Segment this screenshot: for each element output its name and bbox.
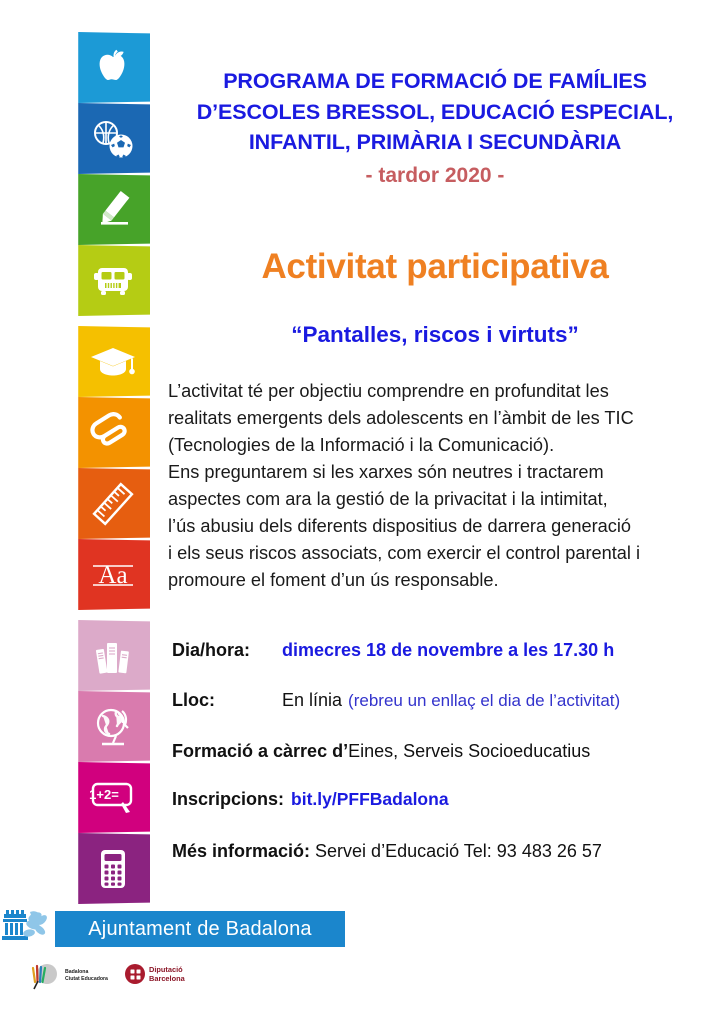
- program-title: PROGRAMA DE FORMACIÓ DE FAMÍLIES D’ESCOL…: [170, 66, 700, 188]
- description-line: (Tecnologies de la Informació i la Comun…: [168, 432, 688, 459]
- poster-footer: Ajuntament de Badalona Badalona Ciutat E…: [0, 900, 725, 1024]
- description-line: L’activitat té per objectiu comprendre e…: [168, 378, 688, 405]
- diputacio-barcelona-logo: Diputació Barcelona: [125, 964, 185, 984]
- icon-tile-pencil: [76, 174, 150, 245]
- icon-tile-apple: [76, 32, 150, 103]
- activity-subtitle: “Pantalles, riscos i virtuts”: [170, 322, 700, 348]
- badalona-logo-icon: [28, 962, 62, 990]
- title-line-3: INFANTIL, PRIMÀRIA I SECUNDÀRIA: [170, 127, 700, 158]
- apple-icon: [76, 32, 150, 103]
- inscripcions-link[interactable]: bit.ly/PFFBadalona: [291, 789, 449, 809]
- detail-row-lloc: Lloc:En línia(rebreu un enllaç el dia de…: [172, 690, 702, 711]
- dia-hora-label: Dia/hora:: [172, 640, 282, 661]
- icon-group-pink: 1+2=: [76, 620, 150, 904]
- diputacio-logo-text: Diputació Barcelona: [149, 965, 185, 984]
- diputacio-seal-icon: [125, 964, 145, 984]
- formacio-label: Formació a càrrec d’: [172, 741, 348, 762]
- mes-informacio-value: Servei d’Educació Tel: 93 483 26 57: [315, 841, 602, 861]
- description-line: i els seus riscos associats, com exercir…: [168, 540, 688, 567]
- icon-group-blue-green: [76, 32, 150, 316]
- icon-tile-sports: [76, 103, 150, 174]
- blackboard-math-icon: 1+2=: [76, 762, 150, 833]
- detail-row-mes-informacio: Més informació:Servei d’Educació Tel: 93…: [172, 841, 702, 862]
- badalona-logo-text: Badalona Ciutat Educadora: [65, 969, 108, 983]
- description-line: aspectes com ara la gestió de la privaci…: [168, 486, 688, 513]
- icon-tile-blackboard-math: 1+2=: [76, 762, 150, 833]
- description-line: l’ús abusiu dels diferents dispositius d…: [168, 513, 688, 540]
- icon-rail: Aa: [76, 32, 150, 892]
- badalona-logo-line-2: Ciutat Educadora: [65, 976, 108, 983]
- icon-group-warm: Aa: [76, 326, 150, 610]
- activity-heading: Activitat participativa: [170, 247, 700, 287]
- inscripcions-label: Inscripcions:: [172, 789, 284, 810]
- icon-tile-calculator: [76, 833, 150, 904]
- icon-tile-ruler: [76, 468, 150, 539]
- detail-row-inscripcions: Inscripcions:bit.ly/PFFBadalona: [172, 789, 702, 810]
- sports-balls-icon: [76, 103, 150, 174]
- school-bus-icon: [76, 245, 150, 316]
- detail-row-formacio: Formació a càrrec d’Eines, Serveis Socio…: [172, 741, 702, 762]
- graduation-cap-icon: [76, 326, 150, 397]
- lloc-note: (rebreu un enllaç el dia de l’activitat): [348, 691, 620, 710]
- description-line: promoure el foment d’un ús responsable.: [168, 567, 688, 594]
- svg-text:Aa: Aa: [98, 562, 127, 589]
- title-line-2: D’ESCOLES BRESSOL, EDUCACIÓ ESPECIAL,: [170, 97, 700, 128]
- globe-icon: [76, 691, 150, 762]
- icon-tile-globe: [76, 691, 150, 762]
- pencil-icon: [76, 174, 150, 245]
- calculator-icon: [76, 833, 150, 904]
- books-icon: [76, 620, 150, 691]
- icon-tile-books: [76, 620, 150, 691]
- icon-tile-graduation-cap: [76, 326, 150, 397]
- ajuntament-crest-icon: [2, 908, 60, 950]
- activity-description: L’activitat té per objectiu comprendre e…: [168, 378, 688, 594]
- description-line: Ens preguntarem si les xarxes són neutre…: [168, 459, 688, 486]
- title-line-1: PROGRAMA DE FORMACIÓ DE FAMÍLIES: [170, 66, 700, 97]
- ajuntament-label: Ajuntament de Badalona: [88, 918, 311, 941]
- description-line: realitats emergents dels adolescents en …: [168, 405, 688, 432]
- letters-aa-icon: Aa: [76, 539, 150, 610]
- lloc-value: En línia: [282, 690, 342, 710]
- mes-informacio-label: Més informació:: [172, 841, 310, 862]
- svg-text:1+2=: 1+2=: [89, 787, 119, 802]
- icon-tile-paperclip: [76, 397, 150, 468]
- lloc-label: Lloc:: [172, 690, 282, 711]
- activity-details: Dia/hora:dimecres 18 de novembre a les 1…: [172, 640, 702, 862]
- diputacio-logo-line-1: Diputació: [149, 965, 185, 974]
- detail-row-dia-hora: Dia/hora:dimecres 18 de novembre a les 1…: [172, 640, 702, 661]
- season-label: - tardor 2020 -: [170, 164, 700, 188]
- ruler-icon: [76, 468, 150, 539]
- dia-hora-value: dimecres 18 de novembre a les 17.30 h: [282, 640, 614, 660]
- ajuntament-badge: Ajuntament de Badalona: [55, 911, 345, 947]
- paperclip-icon: [76, 397, 150, 468]
- icon-tile-letters-aa: Aa: [76, 539, 150, 610]
- badalona-ciutat-educadora-logo: Badalona Ciutat Educadora: [28, 962, 108, 990]
- badalona-logo-line-1: Badalona: [65, 969, 108, 976]
- formacio-value: Eines, Serveis Socioeducatius: [348, 741, 590, 761]
- diputacio-logo-line-2: Barcelona: [149, 974, 185, 983]
- icon-tile-school-bus: [76, 245, 150, 316]
